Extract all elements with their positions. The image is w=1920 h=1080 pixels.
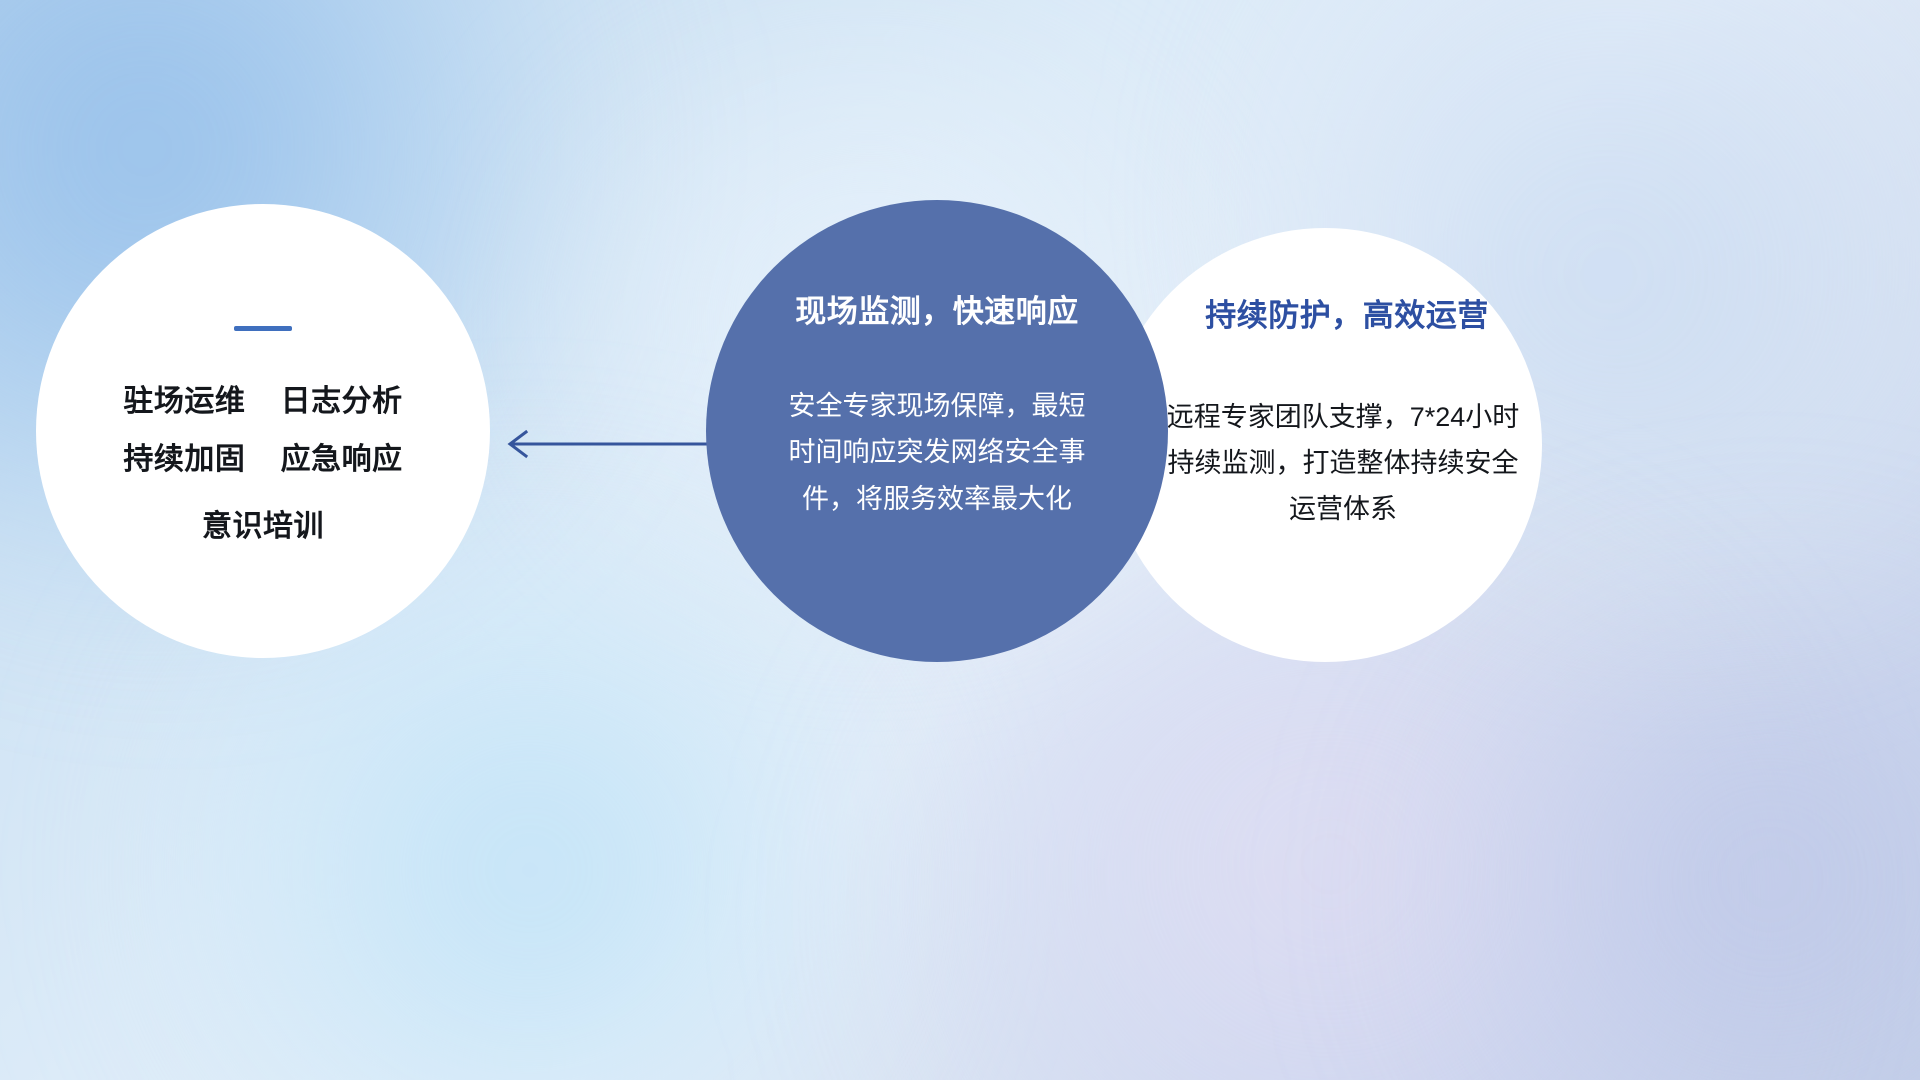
left-service-circle: 驻场运维 日志分析 持续加固 应急响应 意识培训 [36,204,490,658]
middle-monitoring-circle: 现场监测，快速响应 安全专家现场保障，最短时间响应突发网络安全事件，将服务效率最… [706,200,1168,662]
background-blob-lower-right [1420,600,1920,1080]
list-item: 意识培训 [123,498,402,556]
right-circle-title: 持续防护，高效运营 [1161,290,1489,335]
right-circle-body: 远程专家团队支撑，7*24小时持续监测，打造整体持续安全运营体系 [1124,395,1526,533]
slide-canvas: 驻场运维 日志分析 持续加固 应急响应 意识培训 持续防护，高效运营 远程专家团… [0,0,1920,1080]
right-operations-circle: 持续防护，高效运营 远程专家团队支撑，7*24小时持续监测，打造整体持续安全运营… [1108,228,1542,662]
middle-circle-title: 现场监测，快速响应 [795,286,1079,331]
connector-arrow [496,418,712,470]
list-item: 驻场运维 日志分析 [123,373,402,431]
service-list: 驻场运维 日志分析 持续加固 应急响应 意识培训 [123,373,402,556]
middle-circle-body: 安全专家现场保障，最短时间响应突发网络安全事件，将服务效率最大化 [787,383,1087,522]
accent-dash-icon [234,326,292,331]
list-item: 持续加固 应急响应 [123,431,402,489]
